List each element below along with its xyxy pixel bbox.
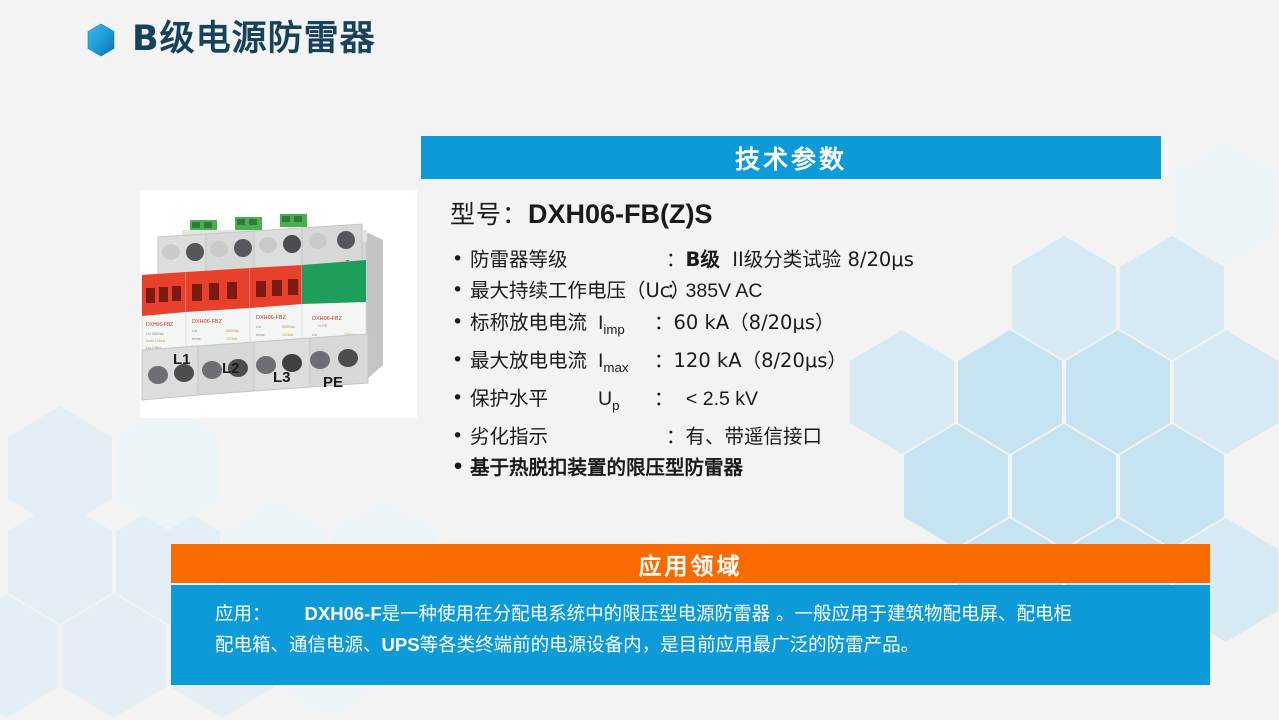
pole-label-l3: L3: [273, 369, 291, 386]
pole-label-l1: L1: [173, 351, 191, 368]
application-lead-label: 应用：: [215, 604, 271, 625]
svg-text:Imax: Imax: [256, 332, 265, 337]
spec-label: 最大放电电流: [470, 345, 598, 376]
spec-symbol: Iimp: [598, 308, 654, 345]
svg-text:DXH06-FBZ: DXH06-FBZ: [146, 322, 173, 328]
bullet-icon: •: [452, 345, 463, 376]
svg-text:Un: Un: [192, 328, 197, 333]
product-photo-card: N DXH06-FBZ Un 385Vac Imax 120kA Up 2.5k…: [140, 190, 417, 418]
spec-colon: ：: [666, 244, 686, 275]
application-body: 应用：DXH06-F是一种使用在分配电系统中的限压型电源防雷器 。一般应用于建筑…: [171, 585, 1210, 685]
spec-value: 120 kA（8/20μs）: [674, 345, 847, 376]
final-note-text: 基于热脱扣装置的限压型防雷器: [470, 456, 743, 479]
bullet-icon: •: [452, 307, 463, 338]
application-line-1: 应用：DXH06-F是一种使用在分配电系统中的限压型电源防雷器 。一般应用于建筑…: [215, 599, 1202, 630]
application-text-2a: 配电箱、通信电源、: [215, 635, 382, 656]
spec-item-imp: • 标称放电电流Iimp：60 kA（8/20μs）: [450, 307, 1170, 345]
spec-value: < 2.5 kV: [686, 384, 758, 415]
spec-item-imax: • 最大放电电流Imax：120 kA（8/20μs）: [450, 345, 1170, 383]
svg-text:120kA: 120kA: [282, 332, 294, 337]
model-label: 型号：: [450, 200, 528, 229]
pole-label-pe: PE: [323, 374, 343, 391]
spec-colon: ：: [654, 383, 674, 414]
page-title: B级电源防雷器: [132, 22, 376, 57]
bullet-icon: •: [452, 452, 464, 483]
hexagon-icon: [86, 23, 116, 57]
spec-list: • 防雷器等级：B级 II级分类试验 8/20μs • 最大持续工作电压（Uc）…: [450, 244, 1170, 483]
spec-label: 防雷器等级: [470, 244, 666, 275]
application-text-1: 是一种使用在分配电系统中的限压型电源防雷器 。一般应用于建筑物配电屏、配电柜: [382, 604, 1072, 625]
spec-symbol: Up: [598, 384, 654, 421]
spec-item-uc: • 最大持续工作电压（Uc）：385V AC: [450, 275, 1170, 307]
svg-text:120kA: 120kA: [226, 336, 238, 341]
svg-text:385Vac: 385Vac: [282, 324, 295, 329]
spec-item-grade: • 防雷器等级：B级 II级分类试验 8/20μs: [450, 244, 1170, 275]
spec-value: 有、带遥信接口: [686, 421, 823, 452]
application-model-2: UPS: [382, 634, 420, 655]
svg-text:Un 385Vac: Un 385Vac: [146, 332, 164, 336]
svg-text:DXH06-FBZ: DXH06-FBZ: [312, 316, 343, 322]
bullet-icon: •: [452, 383, 463, 414]
svg-text:Un: Un: [312, 332, 317, 337]
svg-text:Imax 120kA: Imax 120kA: [146, 339, 166, 343]
spec-label: 标称放电电流: [470, 307, 598, 338]
application-model-1: DXH06-F: [305, 603, 382, 624]
spec-symbol: Imax: [598, 346, 654, 383]
bullet-icon: •: [452, 244, 463, 275]
spec-colon: ：: [654, 345, 674, 376]
spec-value: 385V AC: [686, 276, 763, 307]
model-value: DXH06-FB(Z)S: [528, 199, 713, 229]
model-line: 型号：DXH06-FB(Z)S: [450, 198, 1170, 230]
svg-text:DXH06-FBZ: DXH06-FBZ: [256, 315, 287, 321]
spec-label: 最大持续工作电压（Uc）: [470, 275, 666, 306]
spec-colon: ：: [666, 421, 686, 452]
spec-value: 60 kA（8/20μs）: [674, 307, 835, 338]
svg-text:N-PE: N-PE: [318, 323, 328, 328]
application-text-2b: 等各类终端前的电源设备内，是目前应用最广泛的防雷产品。: [420, 635, 920, 656]
spec-item-degradation: • 劣化指示：有、带遥信接口: [450, 421, 1170, 452]
spec-value-bold: B级: [686, 244, 720, 275]
application-line-2: 配电箱、通信电源、UPS等各类终端前的电源设备内，是目前应用最广泛的防雷产品。: [215, 630, 1202, 661]
application-banner: 应用领域: [171, 544, 1210, 583]
bullet-icon: •: [452, 275, 463, 306]
spec-value: II级分类试验 8/20μs: [732, 244, 914, 275]
spec-colon: ：: [666, 275, 686, 306]
spec-item-final-note: • 基于热脱扣装置的限压型防雷器: [450, 452, 1170, 483]
spec-item-up: • 保护水平Up： < 2.5 kV: [450, 383, 1170, 421]
pole-label-l2: L2: [222, 360, 240, 377]
svg-text:Imax: Imax: [192, 336, 201, 341]
page-header: B级电源防雷器: [86, 22, 376, 57]
svg-text:DXH06-FBZ: DXH06-FBZ: [192, 319, 223, 325]
svg-text:385Vac: 385Vac: [226, 328, 239, 333]
spec-colon: ：: [654, 307, 674, 338]
tech-spec-block: 型号：DXH06-FB(Z)S • 防雷器等级：B级 II级分类试验 8/20μ…: [450, 198, 1170, 483]
spec-label: 保护水平: [470, 383, 598, 414]
spec-label: 劣化指示: [470, 421, 666, 452]
svg-text:Un: Un: [256, 324, 261, 329]
tech-parameters-banner: 技术参数: [421, 136, 1161, 179]
bullet-icon: •: [452, 421, 463, 452]
spd-module-photo: N DXH06-FBZ Un 385Vac Imax 120kA Up 2.5k…: [140, 190, 417, 418]
